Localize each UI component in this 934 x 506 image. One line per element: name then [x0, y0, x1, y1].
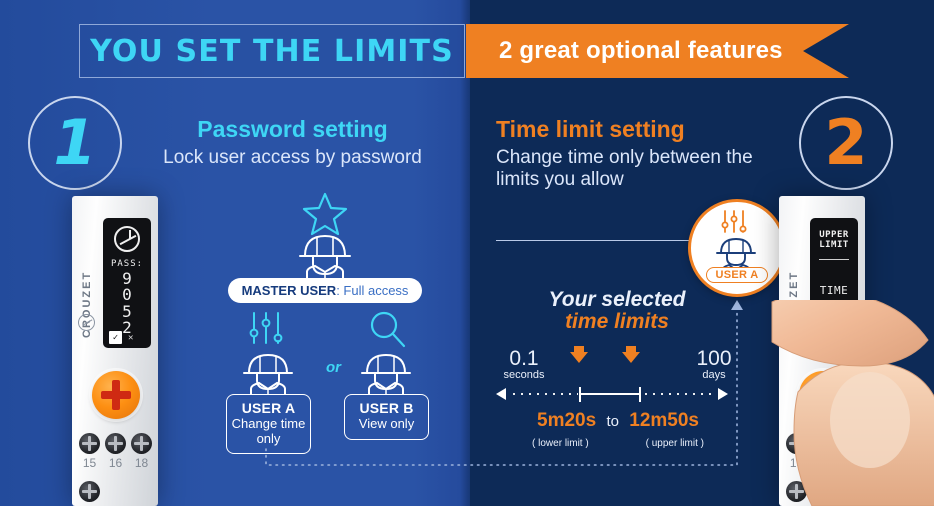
axis-dots-right	[642, 393, 716, 395]
scale-max-value: 100	[684, 348, 744, 369]
axis-left-arrow-icon	[496, 388, 506, 400]
user-b-figure-icon	[344, 305, 430, 395]
left-heading-group: Password setting Lock user access by pas…	[150, 116, 435, 169]
scale-max-unit: days	[684, 369, 744, 381]
step-number-2: 2	[799, 96, 893, 190]
upper-limit-arrow-icon	[622, 352, 640, 363]
scale-min-value: 0.1	[496, 348, 552, 369]
terminal-label: 15	[78, 456, 101, 470]
right-divider	[496, 240, 696, 241]
user-a-badge[interactable]: USER A	[688, 199, 786, 297]
features-ribbon: 2 great optional features	[466, 24, 849, 78]
features-ribbon-label: 2 great optional features	[466, 37, 783, 65]
master-user-label: MASTER USER	[242, 283, 337, 298]
left-subheading: Lock user access by password	[150, 147, 435, 169]
screen-title-line1: UPPER	[819, 230, 849, 240]
crouzet-logo-icon	[78, 314, 95, 331]
screen-upper-limit-title: UPPER LIMIT	[819, 230, 849, 251]
master-user-block: MASTER USER: Full access	[225, 192, 425, 303]
terminal-label: 18	[130, 456, 153, 470]
screen-title-line2: LIMIT	[819, 240, 849, 250]
screen-separator	[819, 259, 849, 260]
left-heading: Password setting	[150, 116, 435, 143]
lower-limit-arrow-icon	[570, 352, 588, 363]
axis-dots-left	[510, 393, 578, 395]
terminal-row-left-lower	[78, 481, 154, 502]
screw-icon	[79, 481, 100, 502]
user-a-card[interactable]: USER A Change time only	[226, 394, 311, 454]
user-b-title: USER B	[348, 400, 425, 416]
axis-selected-range	[579, 393, 641, 395]
axis-tick-lower	[579, 387, 581, 402]
user-a-title: USER A	[230, 400, 307, 416]
screw-icon	[105, 433, 126, 454]
main-title-box: YOU SET THE LIMITS	[79, 24, 465, 78]
orange-dial-knob-left[interactable]	[92, 371, 140, 419]
screen-time-label: TIME	[820, 284, 849, 299]
step-number-2-label: 2	[824, 112, 867, 174]
master-user-figure-icon	[237, 192, 413, 278]
limit-conjunction: to	[601, 413, 624, 430]
main-title: YOU SET THE LIMITS	[90, 34, 454, 69]
user-b-desc: View only	[348, 417, 425, 432]
screen-cancel-icon[interactable]: ✕	[128, 333, 133, 343]
right-heading: Time limit setting	[496, 116, 766, 143]
device-screen-left: PASS: 9052 ✓ ✕	[103, 218, 151, 348]
terminal-label: 16	[104, 456, 127, 470]
step-number-1-label: 1	[53, 112, 96, 174]
limit-values: 5m20s to 12m50s ( lower limit ) ( upper …	[492, 410, 744, 451]
time-scale: 0.1 seconds 100 days 5m20s to 12m50s	[492, 346, 744, 436]
user-a-figure-icon	[226, 305, 312, 395]
terminal-18: 18	[130, 433, 153, 470]
scale-axis	[492, 386, 744, 402]
terminal-15: 15	[78, 433, 101, 470]
hand-pressing-knob	[766, 300, 934, 506]
right-subheading: Change time only between the limits you …	[496, 147, 766, 192]
time-limits-title-group: Your selected time limits	[492, 288, 742, 334]
user-b-card[interactable]: USER B View only	[344, 394, 429, 440]
master-user-access: : Full access	[336, 283, 408, 298]
infographic-root: YOU SET THE LIMITS 2 great optional feat…	[0, 0, 934, 506]
screen-footer: ✓ ✕	[103, 331, 151, 344]
upper-limit-caption: ( upper limit )	[646, 438, 704, 449]
terminal-16: 16	[104, 433, 127, 470]
terminal-row-left: 15 16 18	[78, 433, 154, 470]
screen-pass-label: PASS:	[111, 259, 143, 269]
screen-pass-digits: 9052	[122, 271, 132, 336]
step-number-1: 1	[28, 96, 122, 190]
time-limits-title-line1: Your selected	[492, 288, 742, 312]
or-separator: or	[326, 359, 341, 376]
lower-limit-caption: ( lower limit )	[532, 438, 589, 449]
screw-icon	[131, 433, 152, 454]
scale-min-unit: seconds	[496, 369, 552, 381]
screen-logo-icon	[114, 226, 140, 252]
scale-min: 0.1 seconds	[496, 348, 552, 381]
time-limits-title-line2: time limits	[492, 310, 742, 334]
screen-confirm-icon[interactable]: ✓	[109, 331, 122, 344]
upper-limit-value: 12m50s	[629, 410, 699, 431]
axis-right-arrow-icon	[718, 388, 728, 400]
master-user-pill: MASTER USER: Full access	[228, 278, 423, 303]
screw-icon	[79, 433, 100, 454]
right-heading-group: Time limit setting Change time only betw…	[496, 116, 766, 192]
lower-limit-value: 5m20s	[537, 410, 596, 431]
axis-tick-upper	[639, 387, 641, 402]
scale-max: 100 days	[684, 348, 744, 381]
user-a-desc: Change time only	[230, 417, 307, 446]
terminal-extra	[78, 481, 101, 502]
relay-device-left: CROUZET PASS: 9052 ✓ ✕ 15 16	[72, 196, 158, 506]
badge-user-label: USER A	[706, 267, 769, 283]
